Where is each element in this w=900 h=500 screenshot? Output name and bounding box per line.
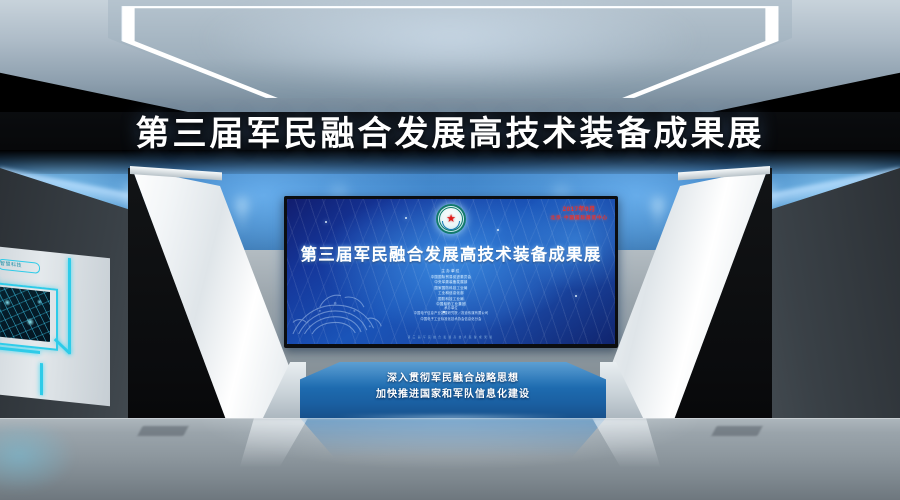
screen-star-dot <box>497 229 499 231</box>
podium-slogan: 深入贯彻军民融合战略思想 加快推进国家和军队信息化建设 <box>300 371 606 402</box>
screen-footer: 第三届军民融合发展高技术装备成果展 <box>287 335 615 339</box>
screen-content: ★ 2017年9月 北京·中国国际展览中心 第三届军民融合发展高技术装备成果展 … <box>287 199 615 344</box>
screen-host-block: 主办单位 中国国际贸易促进委员会 中央军委装备发展部 国家国防科技工业局 工业和… <box>287 269 615 308</box>
exhibition-hall-scene: 智慧科技 <box>0 0 900 500</box>
supporter-item: 中国电子工业标准化技术协会信息化分会 <box>287 317 615 322</box>
page-title: 第三届军民融合发展高技术装备成果展 <box>0 106 900 155</box>
screen-title: 第三届军民融合发展高技术装备成果展 <box>287 241 615 265</box>
screen-supporter-block: 承办单位 中国电子信息产业发展研究院／赛迪传媒有限公司 中国电子工业标准化技术协… <box>287 306 615 322</box>
screen-star-dot <box>405 217 407 219</box>
reflective-floor <box>0 418 900 500</box>
podium-slogan-line1: 深入贯彻军民融合战略思想 <box>300 371 606 387</box>
floor-tile-mark <box>711 426 762 436</box>
wall-tech-panel[interactable]: 智慧科技 <box>0 246 110 407</box>
floor-blue-reflection <box>0 426 110 500</box>
circuit-board-icon <box>0 287 50 342</box>
led-display-screen[interactable]: ★ 2017年9月 北京·中国国际展览中心 第三届军民融合发展高技术装备成果展 … <box>284 196 618 348</box>
floor-tile-mark <box>137 426 188 436</box>
stage-podium: 深入贯彻军民融合战略思想 加快推进国家和军队信息化建设 <box>300 362 606 420</box>
panel-accent-line <box>68 258 71 354</box>
podium-reflection <box>300 418 606 464</box>
military-civil-fusion-emblem: ★ <box>436 204 466 234</box>
podium-slogan-line2: 加快推进国家和军队信息化建设 <box>300 387 606 403</box>
panel-accent-line <box>40 363 43 395</box>
